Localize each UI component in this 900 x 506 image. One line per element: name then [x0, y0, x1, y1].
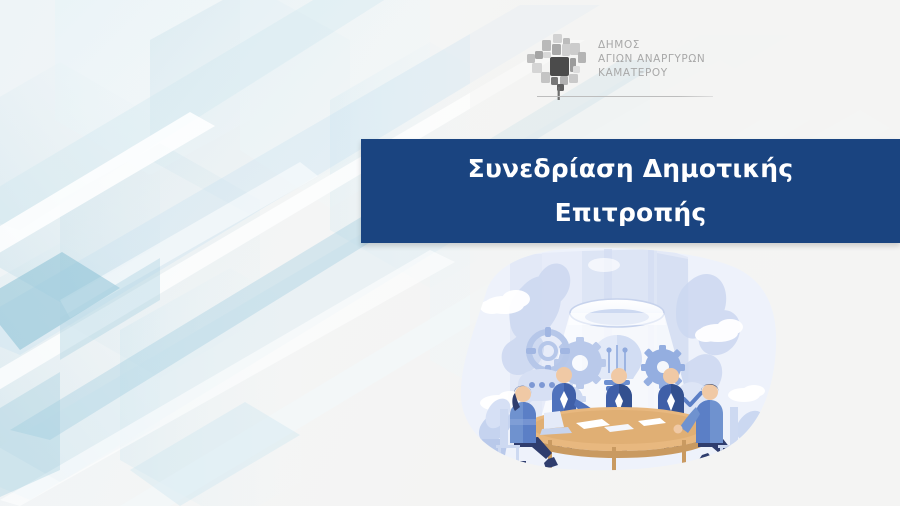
logo-text-block: ΔΗΜΟΣ ΑΓΙΩΝ ΑΝΑΡΓΥΡΩΝ ΚΑΜΑΤΕΡΟΥ: [598, 39, 705, 81]
presentation-slide: ΔΗΜΟΣ ΑΓΙΩΝ ΑΝΑΡΓΥΡΩΝ ΚΑΜΑΤΕΡΟΥ Συνεδρία…: [0, 0, 900, 506]
business-meeting-illustration: [452, 247, 782, 475]
logo-divider-line: [537, 96, 713, 97]
title-banner: Συνεδρίαση Δημοτικής Επιτροπής: [361, 139, 900, 243]
logo-text-line1: ΔΗΜΟΣ: [598, 39, 705, 53]
logo-text-line3: ΚΑΜΑΤΕΡΟΥ: [598, 67, 705, 81]
logo-text-line2: ΑΓΙΩΝ ΑΝΑΡΓΥΡΩΝ: [598, 53, 705, 67]
municipality-logo: ΔΗΜΟΣ ΑΓΙΩΝ ΑΝΑΡΓΥΡΩΝ ΚΑΜΑΤΕΡΟΥ: [524, 30, 724, 105]
tree-logo-icon: [524, 30, 590, 100]
title-line-2: Επιτροπής: [555, 191, 707, 236]
title-line-1: Συνεδρίαση Δημοτικής: [468, 147, 794, 192]
